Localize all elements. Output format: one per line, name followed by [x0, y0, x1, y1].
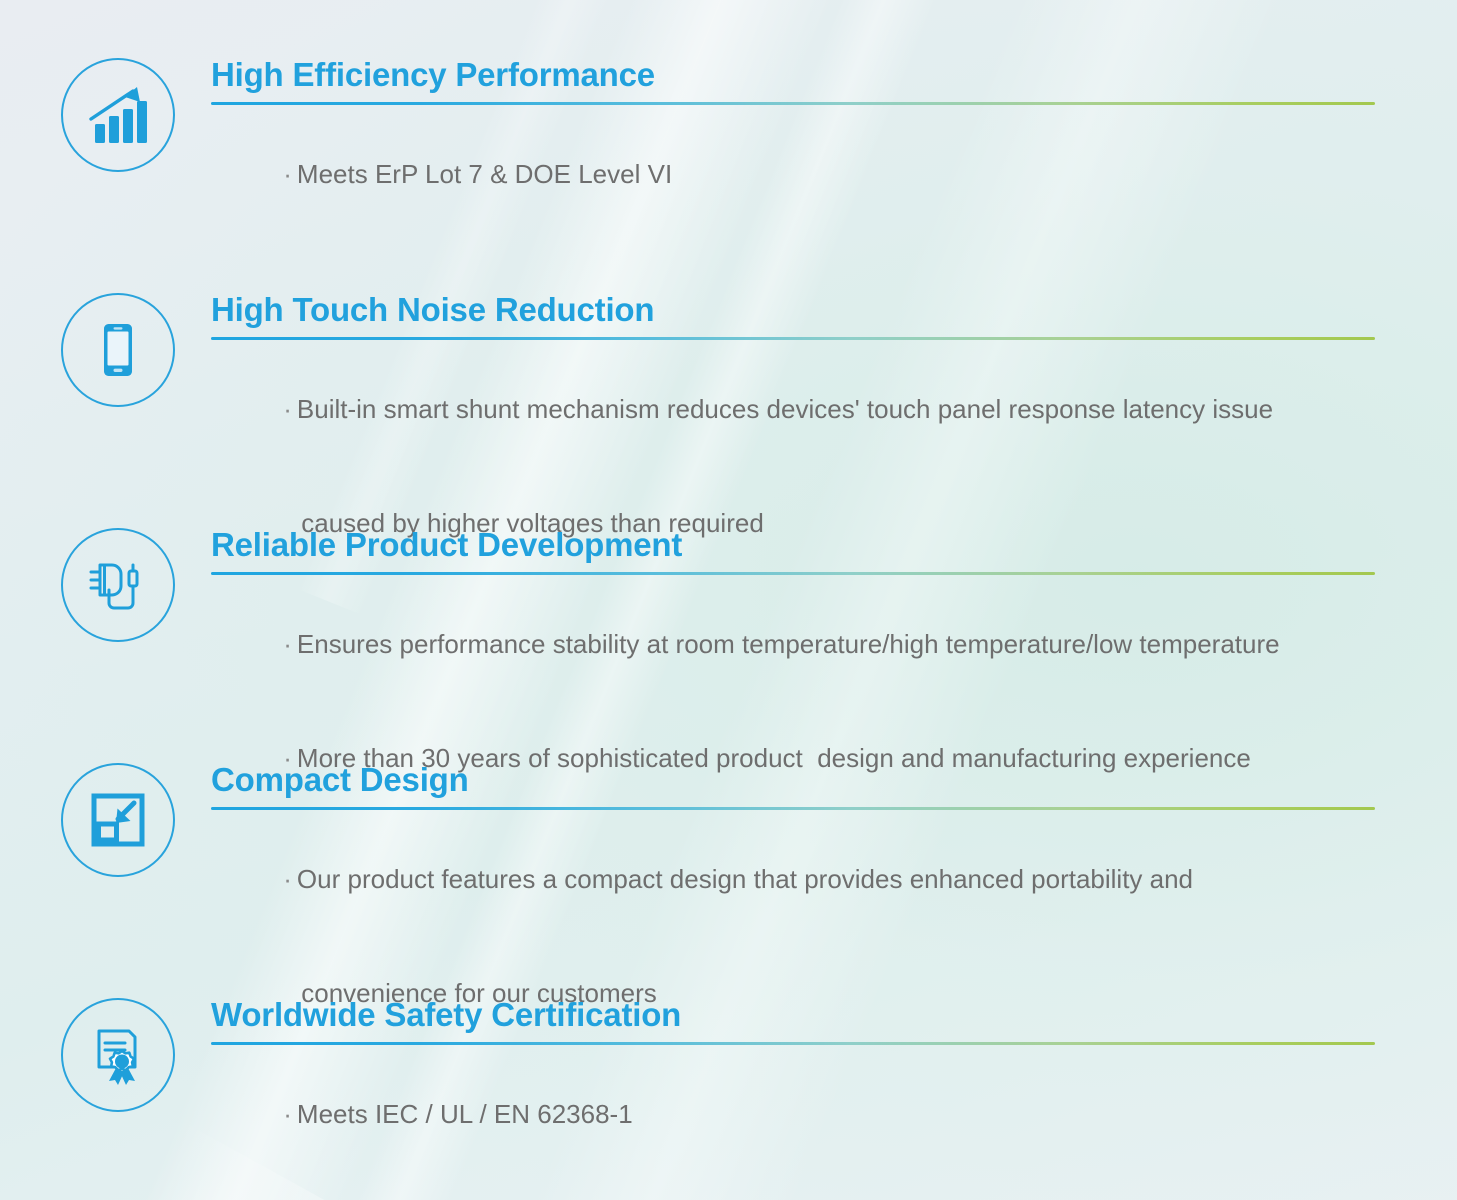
feature-divider [211, 572, 1375, 575]
bullet-glyph: · [283, 629, 292, 659]
description-text: Our product features a compact design th… [297, 864, 1193, 894]
feature-description: ·Meets IEC / UL / EN 62368-1 [211, 1057, 1375, 1171]
feature-description: ·Meets ErP Lot 7 & DOE Level VI [211, 117, 1375, 231]
feature-title: High Touch Noise Reduction [211, 290, 1375, 330]
bullet-glyph: · [283, 394, 292, 424]
feature-divider [211, 337, 1375, 340]
feature-body: High Efficiency Performance ·Meets ErP L… [211, 55, 1375, 231]
power-adapter-icon [61, 528, 175, 642]
bullet-glyph: · [283, 1099, 292, 1129]
feature-title: Reliable Product Development [211, 525, 1375, 565]
description-text: Ensures performance stability at room te… [297, 629, 1280, 659]
description-text: Meets IEC / UL / EN 62368-1 [297, 1099, 633, 1129]
bullet-glyph: · [283, 864, 292, 894]
description-line: ·Built-in smart shunt mechanism reduces … [211, 352, 1375, 466]
feature-title: Worldwide Safety Certification [211, 995, 1375, 1035]
description-text: Built-in smart shunt mechanism reduces d… [297, 394, 1273, 424]
bullet-glyph: · [283, 159, 292, 189]
description-line: ·Our product features a compact design t… [211, 822, 1375, 936]
feature-body: Worldwide Safety Certification ·Meets IE… [211, 995, 1375, 1171]
description-line: ·Meets ErP Lot 7 & DOE Level VI [211, 117, 1375, 231]
bar-chart-growth-icon [61, 58, 175, 172]
description-line: ·Meets IEC / UL / EN 62368-1 [211, 1057, 1375, 1171]
certificate-seal-icon [61, 998, 175, 1112]
feature-title: High Efficiency Performance [211, 55, 1375, 95]
smartphone-icon [61, 293, 175, 407]
description-text: Meets ErP Lot 7 & DOE Level VI [297, 159, 672, 189]
feature-divider [211, 807, 1375, 810]
feature-divider [211, 1042, 1375, 1045]
feature-list-page: High Efficiency Performance ·Meets ErP L… [0, 0, 1457, 1200]
feature-title: Compact Design [211, 760, 1375, 800]
description-line: ·Ensures performance stability at room t… [211, 587, 1375, 701]
compact-resize-icon [61, 763, 175, 877]
feature-divider [211, 102, 1375, 105]
